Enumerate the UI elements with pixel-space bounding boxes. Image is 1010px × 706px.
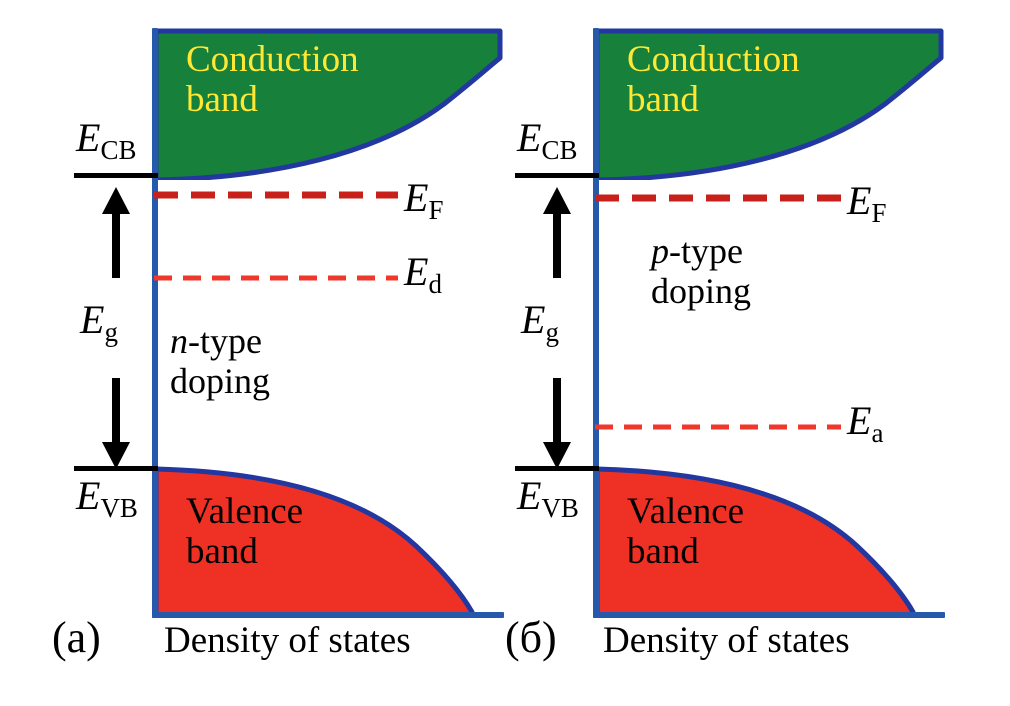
band-gap-up-arrow-b — [537, 186, 577, 278]
dos-baseline-b — [593, 612, 945, 618]
fermi-level-label-b: EF — [847, 181, 886, 227]
valence-band-label-a: Valence band — [186, 492, 303, 572]
band-gap-label-b: Eg — [521, 300, 559, 346]
acceptor-level-label-b: Ea — [847, 401, 883, 447]
ecb-label-a: ECB — [76, 118, 136, 164]
conduction-band-line1: Conduction — [627, 39, 800, 80]
doping-label-b: p-type doping — [651, 232, 751, 311]
ecb-level-tick-b — [515, 173, 599, 178]
donor-level-line-a — [152, 272, 400, 284]
doping-type-rest-b: -type — [669, 231, 743, 271]
band-gap-down-arrow-b — [537, 378, 577, 470]
fermi-level-line-b — [593, 192, 843, 204]
valence-band-line2: band — [627, 531, 699, 572]
evb-label-b: EVB — [517, 476, 579, 522]
panel-b-p-type: Conduction band Valence band ECB EVB — [505, 0, 1010, 706]
fermi-level-line-a — [152, 189, 400, 201]
ecb-level-tick-a — [74, 173, 158, 178]
doping-line2-b: doping — [651, 271, 751, 311]
energy-axis-a — [152, 28, 158, 618]
dos-axis-title-b: Density of states — [603, 622, 850, 659]
doping-line2-a: doping — [170, 361, 270, 401]
valence-band-line1: Valence — [627, 491, 744, 532]
evb-label-a: EVB — [76, 476, 138, 522]
panel-tag-a: (a) — [52, 616, 101, 660]
valence-band-line2: band — [186, 531, 258, 572]
doping-type-letter-b: p — [651, 231, 669, 271]
conduction-band-line2: band — [627, 79, 699, 120]
panel-tag-b: (б) — [505, 616, 557, 660]
conduction-band-label-b: Conduction band — [627, 40, 800, 120]
doping-label-a: n-type doping — [170, 322, 270, 401]
dos-axis-title-a: Density of states — [164, 622, 411, 659]
conduction-band-line2: band — [186, 79, 258, 120]
panel-a-n-type: Conduction band Valence band ECB EVB — [0, 0, 505, 706]
conduction-band-label-a: Conduction band — [186, 40, 359, 120]
doping-type-letter-a: n — [170, 321, 188, 361]
donor-level-label-a: Ed — [404, 252, 442, 298]
band-gap-label-a: Eg — [80, 300, 118, 346]
band-gap-down-arrow-a — [96, 378, 136, 470]
doping-type-rest-a: -type — [188, 321, 262, 361]
ecb-label-b: ECB — [517, 118, 577, 164]
dos-baseline-a — [152, 612, 504, 618]
energy-axis-b — [593, 28, 599, 618]
acceptor-level-line-b — [593, 421, 843, 433]
band-gap-up-arrow-a — [96, 186, 136, 278]
valence-band-line1: Valence — [186, 491, 303, 532]
valence-band-label-b: Valence band — [627, 492, 744, 572]
conduction-band-line1: Conduction — [186, 39, 359, 80]
fermi-level-label-a: EF — [404, 178, 443, 224]
